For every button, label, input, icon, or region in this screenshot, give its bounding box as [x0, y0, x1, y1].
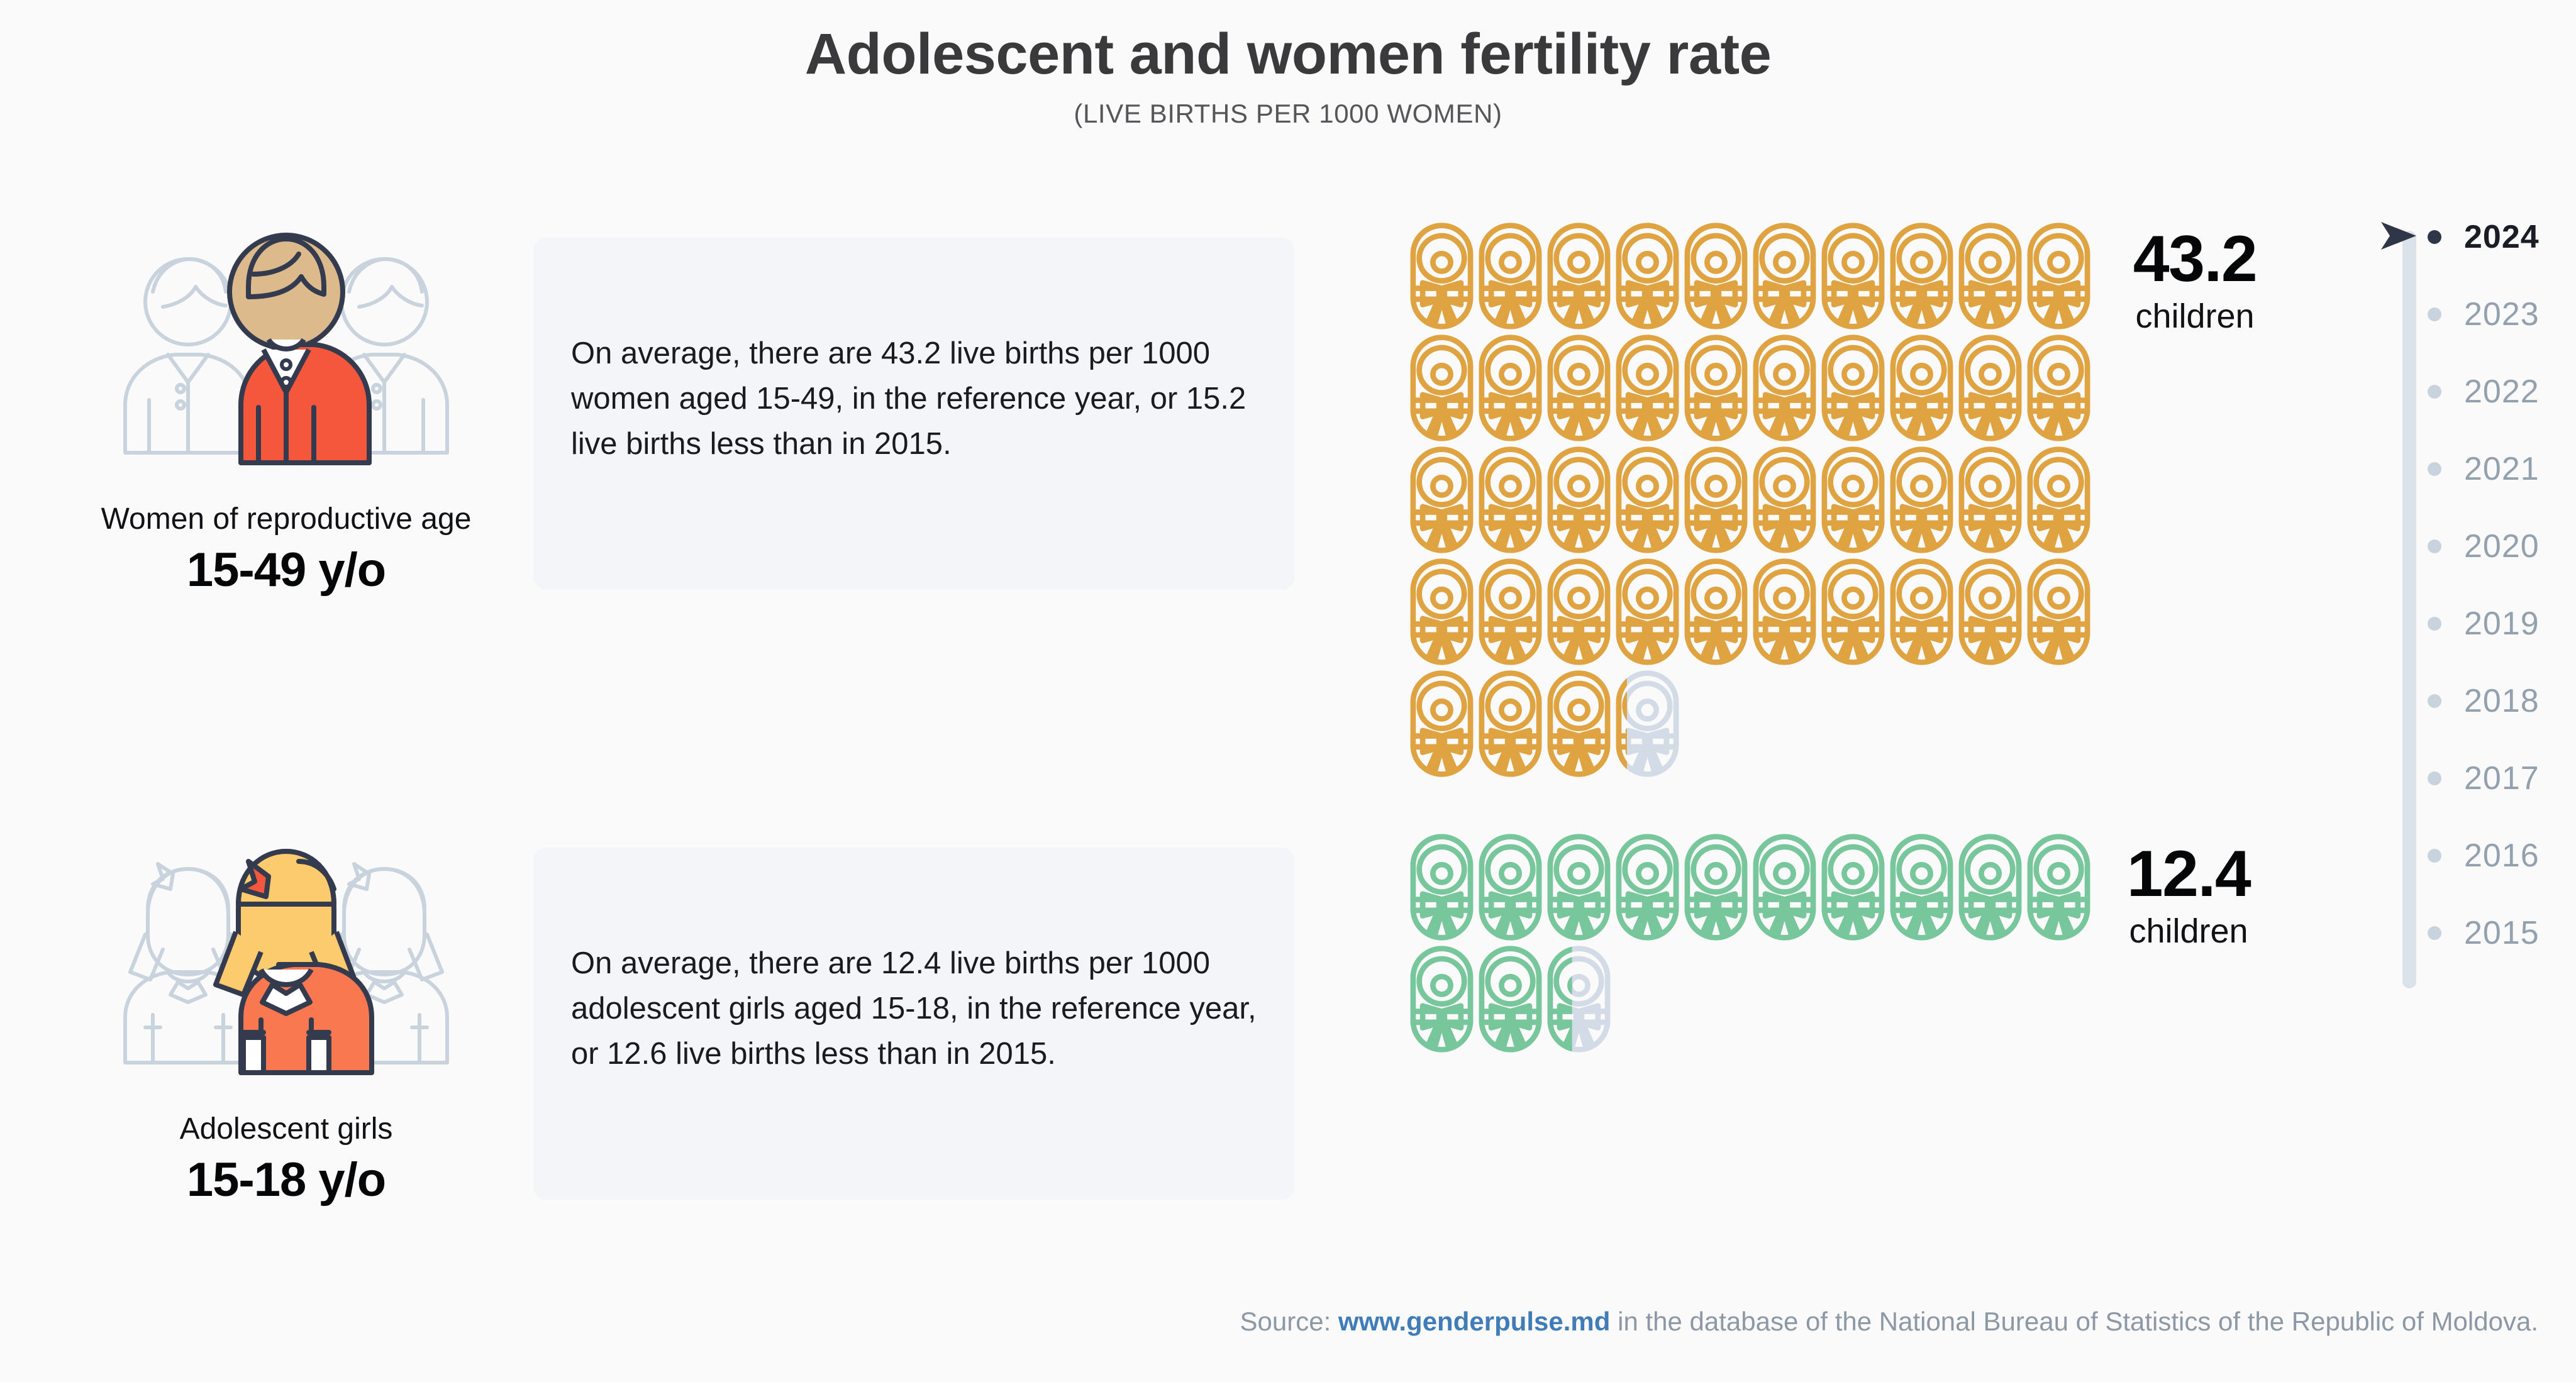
pictogram-icon-cell — [1750, 556, 1819, 668]
pictogram-icon-cell — [1407, 220, 1476, 332]
pictogram-spacer — [1682, 943, 1750, 1055]
baby-icon — [1545, 831, 1613, 943]
pictogram-icon-cell — [1956, 220, 2024, 332]
women-group-icon — [97, 214, 475, 490]
pictogram-icon-cell — [1407, 444, 1476, 556]
pictogram-icon-cell — [1819, 556, 1887, 668]
pictogram-spacer — [1819, 943, 1887, 1055]
pictogram-spacer — [1750, 943, 1819, 1055]
baby-icon — [1819, 831, 1887, 943]
timeline-pointer-arrow[interactable] — [2379, 218, 2424, 253]
pictogram-spacer — [1613, 943, 1682, 1055]
value-unit-women: children — [2088, 297, 2302, 336]
value-readout-girls: 12.4 children — [2082, 841, 2296, 951]
timeline-dot[interactable] — [2428, 307, 2441, 321]
baby-icon — [1545, 556, 1613, 668]
source-suffix: in the database of the National Bureau o… — [1610, 1307, 2538, 1336]
pictogram-icon-cell — [1613, 556, 1682, 668]
timeline-item-2020[interactable]: 2020 — [2428, 526, 2540, 567]
baby-icon — [1407, 831, 1476, 943]
baby-icon — [2024, 444, 2093, 556]
baby-icon — [1407, 220, 1476, 332]
pictogram-spacer — [1887, 943, 1956, 1055]
girls-group-icon — [97, 824, 475, 1100]
pictogram-icon-cell — [1682, 556, 1750, 668]
pictogram-icon-cell — [1887, 831, 1956, 943]
baby-icon — [1682, 220, 1750, 332]
pictogram-icon-cell — [2024, 444, 2093, 556]
pictogram-spacer — [1956, 943, 2024, 1055]
baby-icon — [1956, 332, 2024, 444]
value-number-girls: 12.4 — [2082, 841, 2296, 907]
baby-icon — [1545, 220, 1613, 332]
persona-label-women: Women of reproductive age — [35, 502, 538, 536]
baby-icon — [1750, 332, 1819, 444]
pictogram-icon-cell — [1476, 444, 1545, 556]
baby-icon — [1956, 556, 2024, 668]
pictogram-icon-cell — [1476, 556, 1545, 668]
baby-icon — [1887, 220, 1956, 332]
pictogram-icon-cell — [2024, 220, 2093, 332]
baby-icon — [1407, 556, 1476, 668]
pictogram-icon-cell — [1819, 444, 1887, 556]
header: Adolescent and women fertility rate (LIV… — [0, 24, 2576, 129]
baby-icon — [1956, 220, 2024, 332]
description-card-girls: On average, there are 12.4 live births p… — [533, 848, 1294, 1200]
description-text-girls: On average, there are 12.4 live births p… — [533, 848, 1294, 1076]
baby-icon — [1682, 444, 1750, 556]
timeline-year-label[interactable]: 2018 — [2464, 682, 2540, 720]
baby-icon — [1476, 668, 1545, 780]
timeline-dot[interactable] — [2428, 230, 2441, 244]
pictogram-girls — [1407, 831, 2093, 1055]
timeline-track[interactable] — [2402, 231, 2416, 988]
baby-icon — [1819, 444, 1887, 556]
pictogram-icon-cell — [1956, 332, 2024, 444]
year-timeline[interactable]: 2024202320222021202020192018201720162015 — [2377, 217, 2576, 1003]
baby-icon — [1613, 556, 1682, 668]
pictogram-spacer — [1682, 668, 1750, 780]
baby-icon — [1956, 831, 2024, 943]
baby-icon — [1613, 831, 1682, 943]
baby-icon — [1476, 220, 1545, 332]
baby-icon — [1476, 556, 1545, 668]
pictogram-icon-cell — [1819, 220, 1887, 332]
timeline-year-label[interactable]: 2023 — [2464, 296, 2540, 333]
persona-age-women: 15-49 y/o — [35, 543, 538, 597]
pictogram-spacer — [2024, 668, 2093, 780]
pictogram-icon-cell — [1887, 220, 1956, 332]
pictogram-spacer — [1750, 668, 1819, 780]
timeline-dot[interactable] — [2428, 771, 2441, 785]
persona-age-girls: 15-18 y/o — [35, 1153, 538, 1207]
pictogram-spacer — [1956, 668, 2024, 780]
pictogram-women — [1407, 220, 2093, 780]
timeline-year-label[interactable]: 2020 — [2464, 528, 2540, 565]
timeline-dot[interactable] — [2428, 462, 2441, 476]
pictogram-icon-cell — [1887, 556, 1956, 668]
pictogram-icon-cell — [1545, 332, 1613, 444]
women-group-icon-highlight — [230, 235, 369, 463]
timeline-item-2019[interactable]: 2019 — [2428, 604, 2540, 644]
persona-women: Women of reproductive age 15-49 y/o — [35, 214, 538, 597]
timeline-item-2016[interactable]: 2016 — [2428, 836, 2540, 876]
timeline-dot[interactable] — [2428, 926, 2441, 940]
value-unit-girls: children — [2082, 912, 2296, 951]
baby-icon — [2024, 556, 2093, 668]
baby-icon — [2024, 332, 2093, 444]
timeline-year-label[interactable]: 2015 — [2464, 914, 2540, 952]
baby-icon — [1407, 332, 1476, 444]
timeline-item-2022[interactable]: 2022 — [2428, 372, 2540, 412]
pictogram-icon-cell — [1887, 444, 1956, 556]
baby-icon — [1613, 332, 1682, 444]
timeline-item-2018[interactable]: 2018 — [2428, 681, 2540, 721]
timeline-dot[interactable] — [2428, 385, 2441, 399]
pictogram-icon-cell — [1819, 332, 1887, 444]
timeline-year-label[interactable]: 2017 — [2464, 760, 2540, 797]
pictogram-icon-cell — [1956, 444, 2024, 556]
pictogram-icon-cell — [1750, 220, 1819, 332]
timeline-year-label[interactable]: 2021 — [2464, 450, 2540, 488]
pictogram-icon-cell — [1407, 556, 1476, 668]
baby-icon — [1887, 556, 1956, 668]
pictogram-icon-cell — [1956, 831, 2024, 943]
pictogram-icon-cell — [1613, 831, 1682, 943]
pictogram-icon-cell — [1750, 444, 1819, 556]
baby-icon — [2024, 220, 2093, 332]
baby-icon — [1545, 332, 1613, 444]
pictogram-icon-cell — [1613, 668, 1682, 780]
baby-icon — [1407, 444, 1476, 556]
pictogram-icon-cell — [1613, 332, 1682, 444]
pictogram-spacer — [1819, 668, 1887, 780]
baby-icon — [1750, 444, 1819, 556]
baby-icon — [1545, 444, 1613, 556]
timeline-item-2015[interactable]: 2015 — [2428, 913, 2540, 953]
persona-girls: Adolescent girls 15-18 y/o — [35, 824, 538, 1207]
source-link[interactable]: www.genderpulse.md — [1338, 1307, 1611, 1336]
pictogram-icon-cell — [1682, 220, 1750, 332]
pictogram-icon-cell — [1476, 668, 1545, 780]
baby-icon — [1476, 831, 1545, 943]
pictogram-icon-cell — [1956, 556, 2024, 668]
description-text-women: On average, there are 43.2 live births p… — [533, 238, 1294, 467]
baby-icon — [1407, 668, 1476, 780]
baby-icon — [1750, 831, 1819, 943]
pictogram-icon-cell — [2024, 332, 2093, 444]
timeline-item-2023[interactable]: 2023 — [2428, 294, 2540, 334]
pictogram-icon-cell — [1682, 332, 1750, 444]
pictogram-icon-cell — [1613, 444, 1682, 556]
timeline-dot[interactable] — [2428, 694, 2441, 708]
pictogram-icon-cell — [1545, 831, 1613, 943]
pictogram-icon-cell — [1476, 332, 1545, 444]
baby-icon — [1887, 831, 1956, 943]
pictogram-grid-women — [1407, 220, 2093, 780]
baby-icon — [1407, 943, 1476, 1055]
pictogram-icon-cell — [1476, 831, 1545, 943]
pictogram-icon-cell — [1407, 668, 1476, 780]
baby-icon — [1545, 668, 1613, 780]
pictogram-icon-cell — [1545, 943, 1613, 1055]
baby-icon — [1750, 556, 1819, 668]
baby-icon — [1750, 220, 1819, 332]
baby-icon — [1613, 444, 1682, 556]
description-card-women: On average, there are 43.2 live births p… — [533, 238, 1294, 590]
pictogram-icon-cell — [1476, 220, 1545, 332]
baby-icon — [1613, 220, 1682, 332]
baby-icon — [1887, 332, 1956, 444]
timeline-dot[interactable] — [2428, 539, 2441, 553]
pictogram-icon-cell — [1819, 831, 1887, 943]
baby-icon — [1476, 444, 1545, 556]
pictogram-icon-cell — [1682, 831, 1750, 943]
pictogram-icon-cell — [1545, 220, 1613, 332]
pictogram-icon-cell — [1750, 831, 1819, 943]
value-readout-women: 43.2 children — [2088, 226, 2302, 336]
page-title: Adolescent and women fertility rate — [0, 24, 2576, 85]
timeline-dot[interactable] — [2428, 617, 2441, 631]
pictogram-icon-cell — [1407, 943, 1476, 1055]
baby-icon — [1819, 220, 1887, 332]
baby-icon — [1613, 668, 1682, 780]
persona-label-girls: Adolescent girls — [35, 1112, 538, 1146]
pictogram-icon-cell — [1407, 332, 1476, 444]
timeline-year-label[interactable]: 2024 — [2464, 218, 2540, 256]
baby-icon — [1956, 444, 2024, 556]
pictogram-icon-cell — [1476, 943, 1545, 1055]
pictogram-spacer — [1887, 668, 1956, 780]
pictogram-icon-cell — [1545, 444, 1613, 556]
timeline-year-label[interactable]: 2016 — [2464, 837, 2540, 875]
timeline-year-label[interactable]: 2019 — [2464, 605, 2540, 643]
infographic-page: Adolescent and women fertility rate (LIV… — [0, 0, 2576, 1382]
baby-icon — [1819, 556, 1887, 668]
pictogram-icon-cell — [1407, 831, 1476, 943]
source-prefix: Source: — [1240, 1307, 1338, 1336]
pictogram-icon-cell — [1545, 668, 1613, 780]
value-number-women: 43.2 — [2088, 226, 2302, 292]
timeline-dot[interactable] — [2428, 849, 2441, 863]
pictogram-icon-cell — [1545, 556, 1613, 668]
pictogram-icon-cell — [1750, 332, 1819, 444]
pictogram-icon-cell — [2024, 556, 2093, 668]
baby-icon — [1682, 831, 1750, 943]
timeline-item-2021[interactable]: 2021 — [2428, 449, 2540, 489]
baby-icon — [1545, 943, 1613, 1055]
pictogram-icon-cell — [1682, 444, 1750, 556]
baby-icon — [1476, 943, 1545, 1055]
timeline-year-label[interactable]: 2022 — [2464, 373, 2540, 411]
pictogram-grid-girls — [1407, 831, 2093, 1055]
page-subtitle: (LIVE BIRTHS PER 1000 WOMEN) — [0, 99, 2576, 129]
timeline-item-2017[interactable]: 2017 — [2428, 758, 2540, 799]
pictogram-icon-cell — [1613, 220, 1682, 332]
baby-icon — [1682, 556, 1750, 668]
baby-icon — [1682, 332, 1750, 444]
source-footer: Source: www.genderpulse.md in the databa… — [0, 1307, 2576, 1337]
pictogram-spacer — [2024, 943, 2093, 1055]
baby-icon — [1476, 332, 1545, 444]
baby-icon — [1887, 444, 1956, 556]
baby-icon — [1819, 332, 1887, 444]
timeline-item-2024[interactable]: 2024 — [2428, 217, 2540, 257]
pictogram-icon-cell — [1887, 332, 1956, 444]
